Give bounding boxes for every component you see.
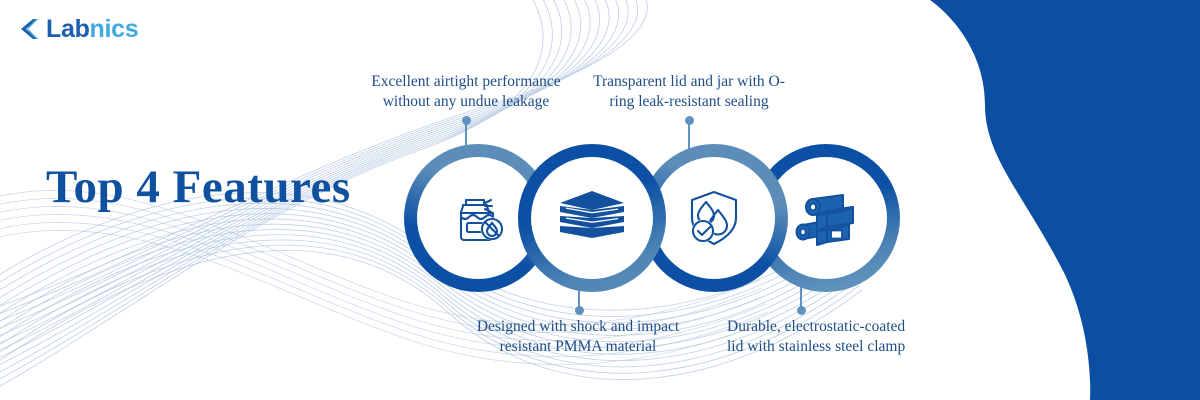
connector-dot [575, 306, 584, 315]
connector-dot [685, 116, 694, 125]
features-banner: Labnics Top 4 Features [0, 0, 1200, 400]
labnics-chevron-mark [16, 16, 42, 42]
logo-text-nics: nics [90, 15, 139, 43]
feature-caption-pmma: Designed with shock and impact resistant… [463, 317, 693, 358]
steel-pipes-stack-icon [791, 185, 861, 251]
circle-inner [531, 157, 653, 279]
logo-text-lab: Lab [46, 15, 90, 43]
connector-dot [797, 306, 806, 315]
circle-inner [653, 157, 775, 279]
feature-caption-clamp: Durable, electrostatic-coated lid with s… [727, 317, 957, 358]
feature-caption-sealing: Transparent lid and jar with O- ring lea… [582, 72, 796, 113]
logo-wordmark: Labnics [46, 17, 138, 42]
stacked-layers-icon [556, 187, 628, 249]
feature-circle-pmma[interactable] [518, 144, 666, 292]
feature-caption-airtight: Excellent airtight performance without a… [360, 72, 572, 113]
page-title: Top 4 Features [46, 163, 351, 212]
brand-logo[interactable]: Labnics [16, 16, 138, 42]
jar-no-leak-icon [445, 185, 511, 251]
shield-water-drop-check-icon [680, 184, 748, 252]
connector-dot [462, 116, 471, 125]
